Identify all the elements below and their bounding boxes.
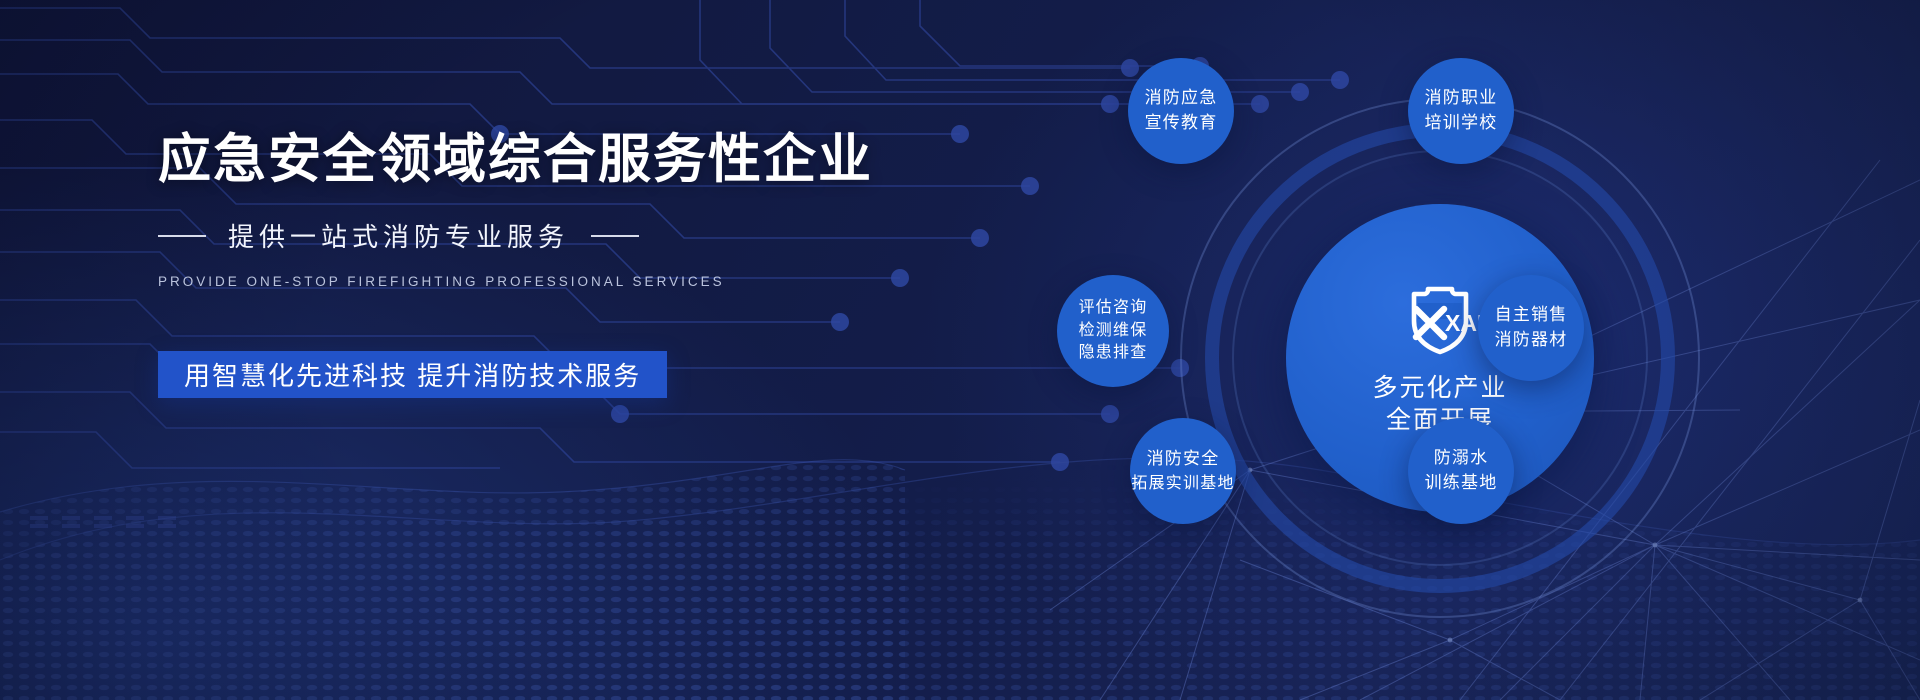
node-label-line1: 评估咨询 <box>1079 297 1148 320</box>
rule-left-decoration <box>158 235 206 237</box>
node-label-line2: 检测维保 <box>1079 320 1148 343</box>
diagram-node-safety-training-base[interactable]: 消防安全 拓展实训基地 <box>1130 418 1236 524</box>
subtitle-row: 提供一站式消防专业服务 <box>158 217 918 254</box>
svg-text:XAN: XAN <box>1445 310 1482 336</box>
hero-banner: 应急安全领域综合服务性企业 提供一站式消防专业服务 PROVIDE ONE-ST… <box>0 0 1920 700</box>
page-title: 应急安全领域综合服务性企业 <box>158 131 918 189</box>
node-label-line2: 培训学校 <box>1425 111 1498 136</box>
services-circle-diagram: XAN 多元化产业 全面开展 消防应急 宣传教育 消防职业 培训学校 评估咨询 … <box>1100 40 1780 660</box>
shield-icon: XAN <box>1398 281 1482 364</box>
diagram-node-equipment-sales[interactable]: 自主销售 消防器材 <box>1478 275 1584 381</box>
diagram-node-fire-vocational-school[interactable]: 消防职业 培训学校 <box>1408 58 1514 164</box>
diagram-node-fire-emergency-publicity[interactable]: 消防应急 宣传教育 <box>1128 58 1234 164</box>
node-label-line2: 拓展实训基地 <box>1131 472 1234 495</box>
rule-right-decoration <box>591 235 639 237</box>
cta-banner-button[interactable]: 用智慧化先进科技 提升消防技术服务 <box>158 351 667 398</box>
node-label-line1: 消防职业 <box>1425 86 1498 111</box>
node-label-line1: 消防应急 <box>1145 86 1218 111</box>
node-label-line1: 消防安全 <box>1147 447 1220 472</box>
english-tagline: PROVIDE ONE-STOP FIREFIGHTING PROFESSION… <box>158 274 918 289</box>
diagram-node-assessment-inspection[interactable]: 评估咨询 检测维保 隐患排查 <box>1057 275 1169 387</box>
node-label-line3: 隐患排查 <box>1079 342 1148 365</box>
page-subtitle: 提供一站式消防专业服务 <box>228 217 569 254</box>
node-label-line2: 消防器材 <box>1495 328 1568 353</box>
node-label-line2: 训练基地 <box>1425 471 1498 496</box>
node-label-line1: 防溺水 <box>1434 446 1489 471</box>
node-label-line1: 自主销售 <box>1495 303 1568 328</box>
node-label-line2: 宣传教育 <box>1145 111 1218 136</box>
diagram-node-anti-drowning-base[interactable]: 防溺水 训练基地 <box>1408 418 1514 524</box>
headline-block: 应急安全领域综合服务性企业 提供一站式消防专业服务 PROVIDE ONE-ST… <box>158 131 918 398</box>
center-node-line1: 多元化产业 <box>1372 372 1507 404</box>
